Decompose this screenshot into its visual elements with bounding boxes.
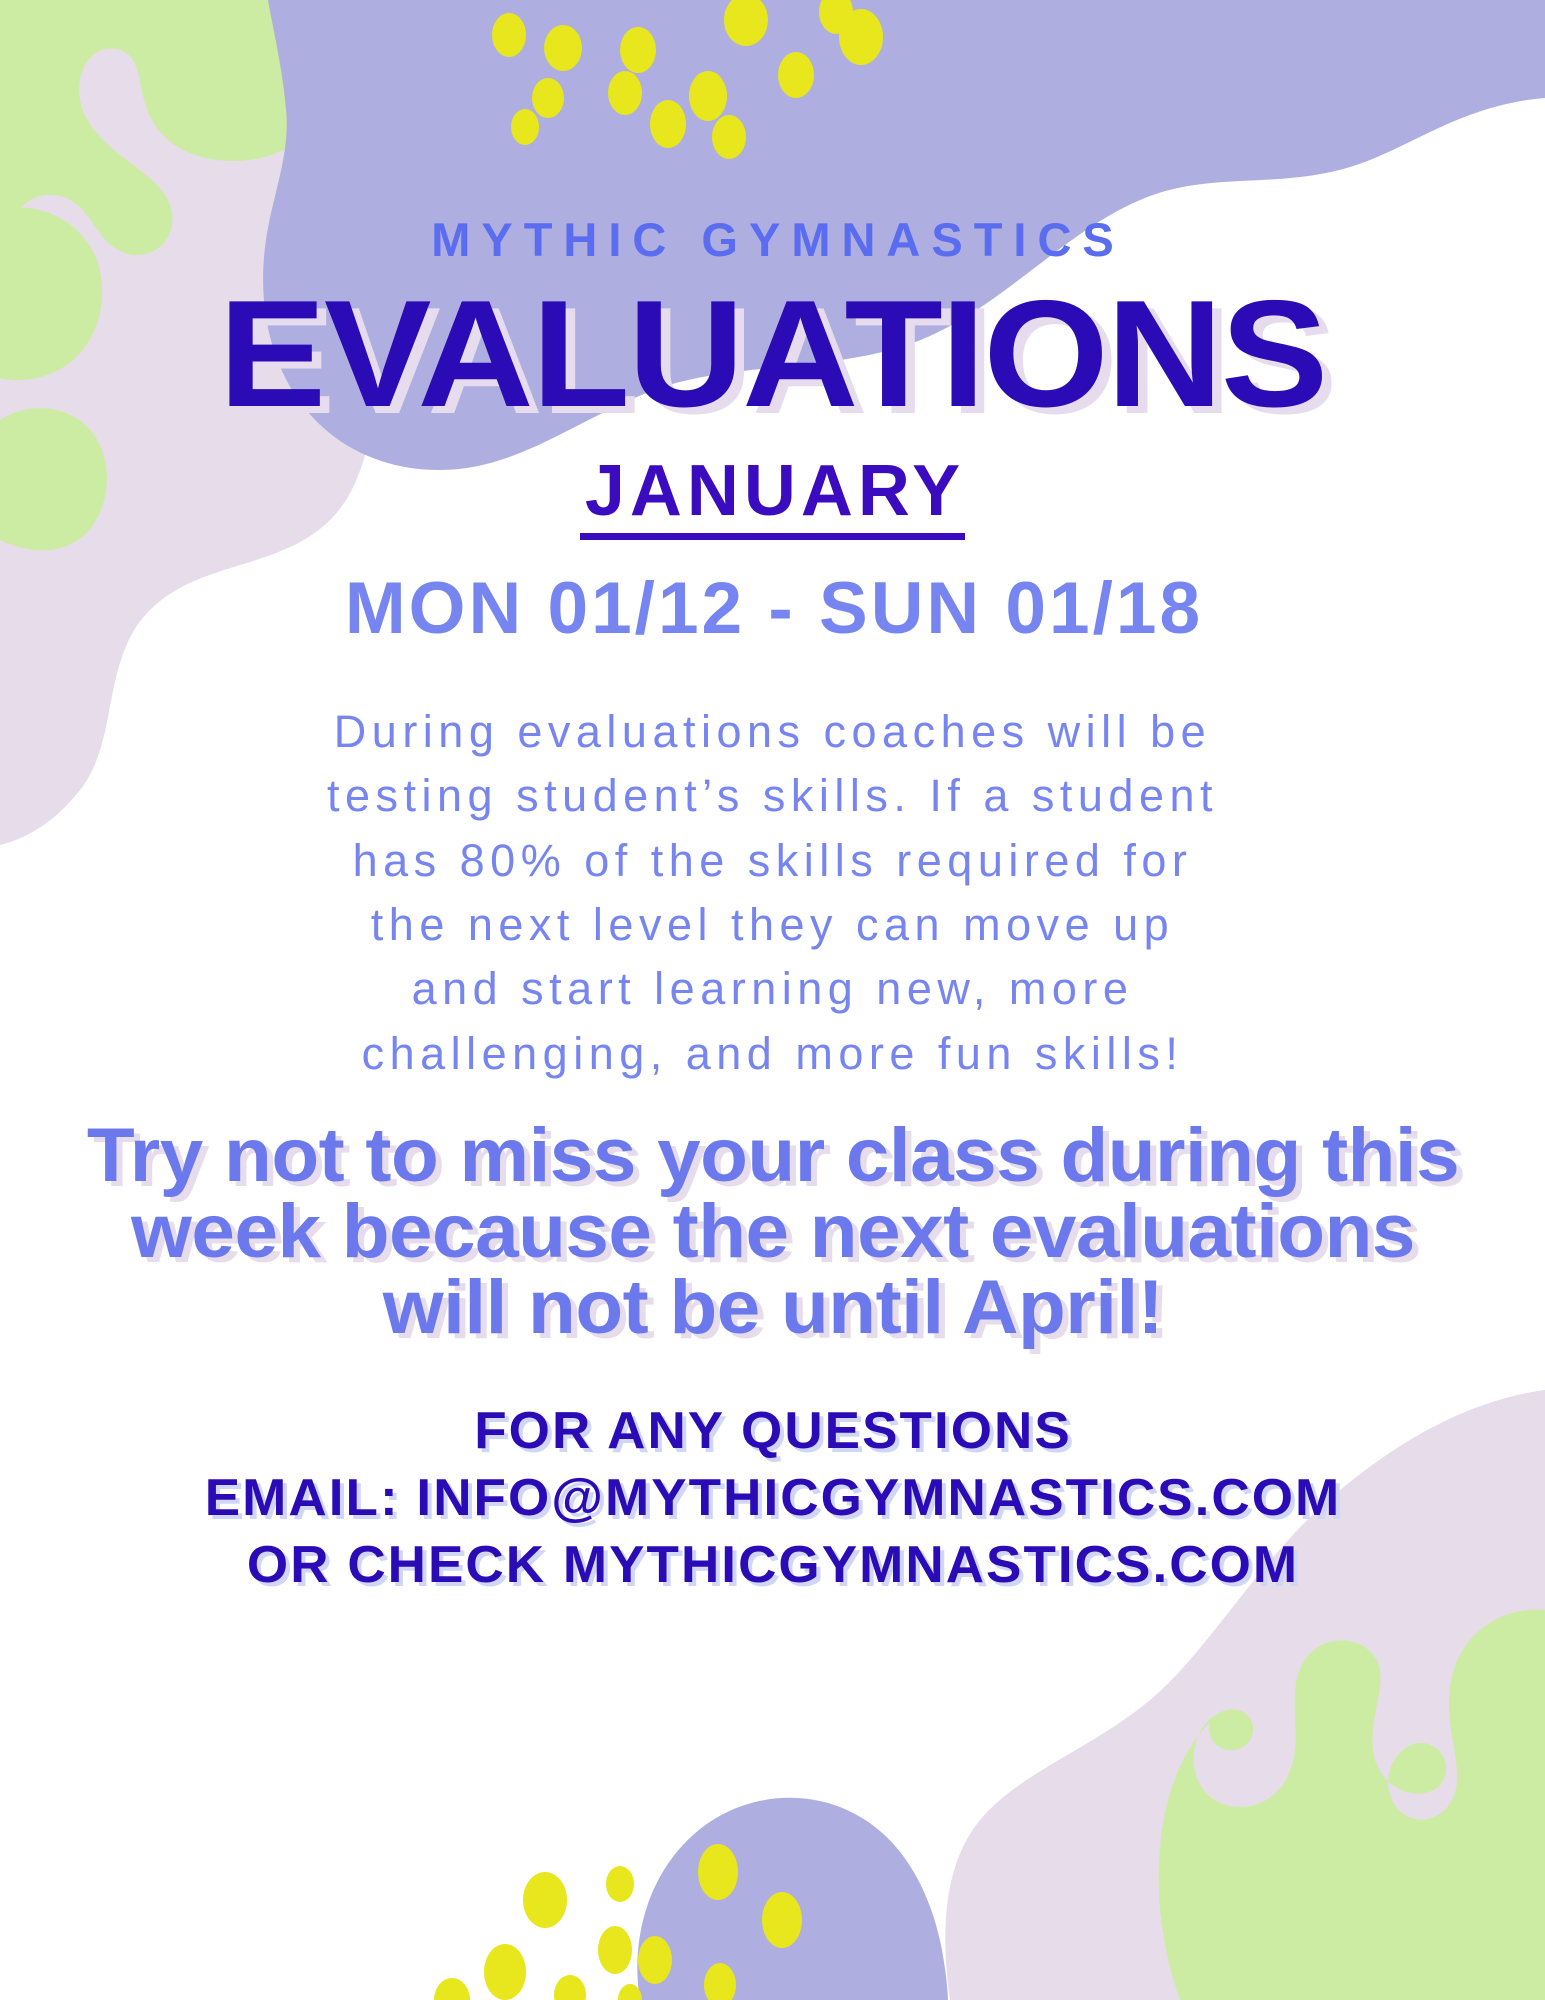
body-copy: During evaluations coaches will be testi…: [148, 700, 1398, 1086]
call-to-action: Try not to miss your class during this w…: [10, 1118, 1534, 1346]
body-line: and start learning new, more: [148, 957, 1398, 1021]
body-line: the next level they can move up: [148, 893, 1398, 957]
cta-line: week because the next evaluations: [10, 1194, 1534, 1270]
body-line: testing student’s skills. If a student: [148, 764, 1398, 828]
poster-canvas: MYTHIC GYMNASTICS EVALUATIONS JANUARY MO…: [0, 0, 1545, 2000]
date-range: MON 01/12 - SUN 01/18: [342, 572, 1203, 645]
cta-line: will not be until April!: [10, 1270, 1534, 1346]
month-label: JANUARY: [580, 455, 965, 540]
footer-email[interactable]: EMAIL: INFO@MYTHICGYMNASTICS.COM: [59, 1465, 1487, 1532]
body-line: During evaluations coaches will be: [148, 700, 1398, 764]
footer-website[interactable]: OR CHECK MYTHICGYMNASTICS.COM: [59, 1532, 1487, 1599]
footer-heading: FOR ANY QUESTIONS: [59, 1398, 1487, 1465]
body-line: challenging, and more fun skills!: [148, 1022, 1398, 1086]
brand-name: MYTHIC GYMNASTICS: [420, 216, 1125, 263]
cta-line: Try not to miss your class during this: [10, 1118, 1534, 1194]
contact-footer: FOR ANY QUESTIONS EMAIL: INFO@MYTHICGYMN…: [59, 1398, 1487, 1599]
page-title: EVALUATIONS: [219, 285, 1327, 425]
body-line: has 80% of the skills required for: [148, 829, 1398, 893]
